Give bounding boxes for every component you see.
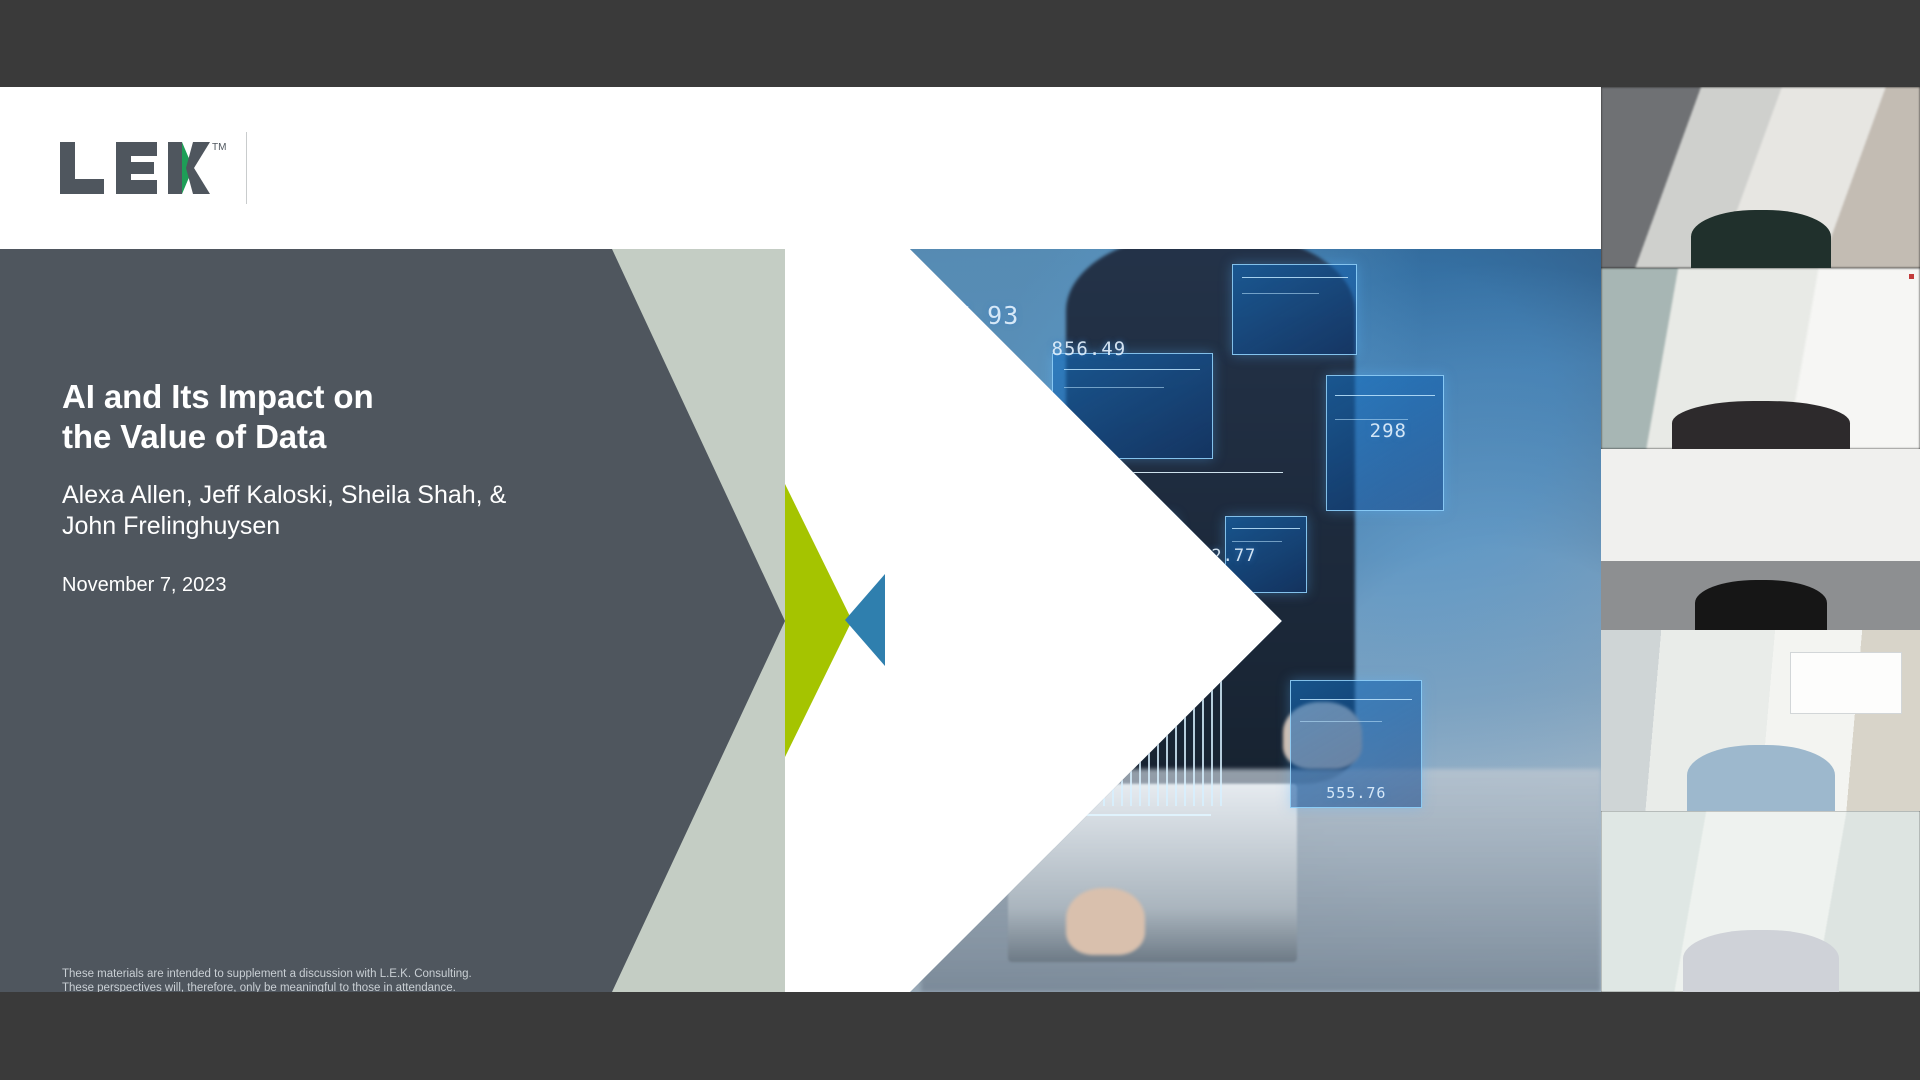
slide-disclaimer: These materials are intended to suppleme… <box>62 967 582 992</box>
slide-text-block: AI and Its Impact on the Value of Data A… <box>62 377 622 597</box>
disclaimer-line-1: These materials are intended to suppleme… <box>62 967 582 981</box>
slide-title-line-1: AI and Its Impact on <box>62 378 374 415</box>
trademark-icon: TM <box>212 142 226 153</box>
meeting-screenshare-window: TM <box>0 0 1920 1080</box>
hud-panel <box>1073 516 1176 629</box>
participant-tile-5[interactable] <box>1601 811 1920 992</box>
hud-number: 292.76 <box>892 821 967 843</box>
logo-divider <box>246 132 247 204</box>
recording-indicator-icon <box>1909 274 1914 279</box>
hud-rule <box>1066 472 1283 473</box>
meeting-chrome-bottom-bar <box>0 992 1920 1080</box>
hud-rule <box>950 814 1210 816</box>
hero-photo: 4627.93 856.49 298 762.77 292.76 555.76 <box>878 249 1601 992</box>
lek-logo-mark: TM <box>60 142 210 194</box>
participant-video-rail <box>1601 87 1920 992</box>
participant-tile-3[interactable] <box>1601 449 1920 630</box>
slide-date: November 7, 2023 <box>62 574 622 597</box>
disclaimer-line-2: These perspectives will, therefore, only… <box>62 981 582 992</box>
photo-hand <box>1066 888 1146 955</box>
photo-background: 4627.93 856.49 298 762.77 292.76 555.76 <box>878 249 1601 992</box>
hud-number: 298 <box>1370 420 1407 442</box>
whiteboard-prop <box>1790 652 1902 714</box>
lime-chevron-shape <box>785 484 852 757</box>
hud-number: 555.76 <box>1326 784 1386 802</box>
participant-tile-4[interactable] <box>1601 630 1920 811</box>
slide-title: AI and Its Impact on the Value of Data <box>62 377 622 458</box>
participant-torso <box>1687 745 1835 811</box>
blue-chevron-shape <box>845 574 885 666</box>
hud-number: 4627.93 <box>907 301 1019 330</box>
hud-panel <box>1052 353 1213 459</box>
photo-laptop <box>1008 784 1297 962</box>
hud-number: 856.49 <box>1052 338 1127 360</box>
participant-tile-2[interactable] <box>1601 268 1920 449</box>
slide-title-line-2: the Value of Data <box>62 418 326 455</box>
slide-authors-line-1: Alexa Allen, Jeff Kaloski, Sheila Shah, … <box>62 481 506 509</box>
hud-bar-chart <box>950 673 1225 807</box>
hud-panel <box>1232 264 1357 355</box>
meeting-chrome-top-bar <box>0 0 1920 87</box>
participant-torso <box>1691 210 1831 268</box>
lek-logo: TM <box>60 142 247 202</box>
hud-panel <box>1326 375 1444 511</box>
slide-graphics-body: 4627.93 856.49 298 762.77 292.76 555.76 <box>0 249 1601 992</box>
participant-torso <box>1695 580 1827 630</box>
participant-tile-1[interactable] <box>1601 87 1920 268</box>
participant-torso <box>1683 930 1839 992</box>
shared-slide[interactable]: TM <box>0 87 1601 992</box>
slide-authors-line-2: John Frelinghuysen <box>62 512 280 540</box>
participant-torso <box>1672 401 1850 449</box>
slide-authors: Alexa Allen, Jeff Kaloski, Sheila Shah, … <box>62 480 622 542</box>
hud-rule <box>936 635 1225 637</box>
hud-number: 762.77 <box>1189 546 1256 566</box>
slide-header: TM <box>0 87 1601 249</box>
